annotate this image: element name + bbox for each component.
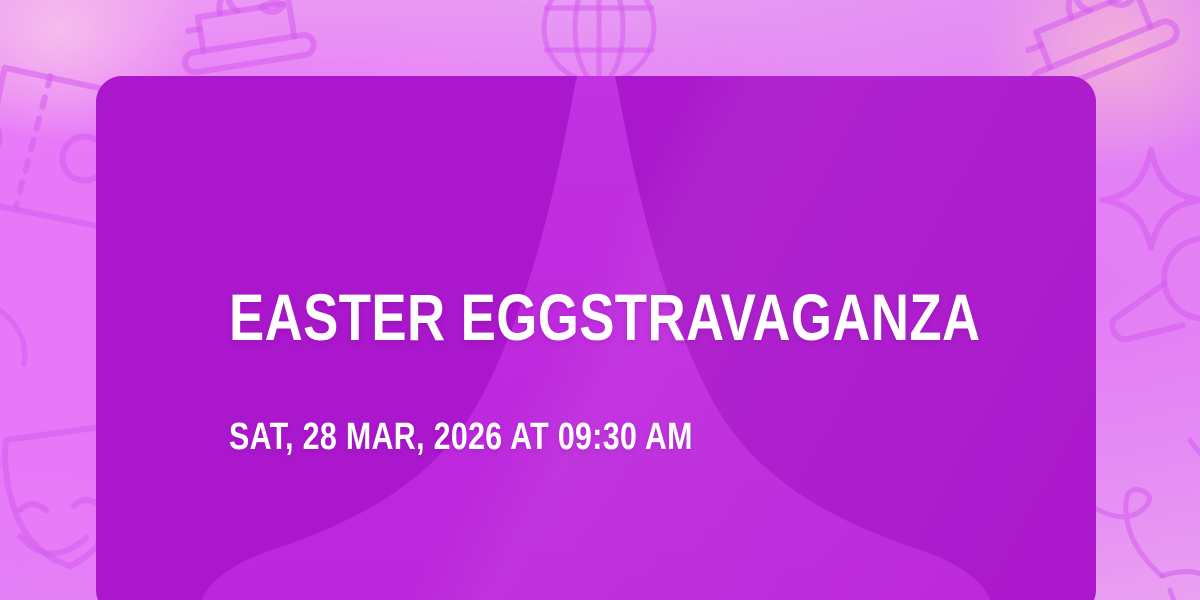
event-text-block: Easter Eggstravaganza Sat, 28 Mar, 2026 …: [229, 282, 1059, 458]
event-banner: Easter Eggstravaganza Sat, 28 Mar, 2026 …: [0, 0, 1200, 600]
event-date-time: Sat, 28 Mar, 2026 at 09:30 AM: [229, 416, 893, 458]
event-card[interactable]: Easter Eggstravaganza Sat, 28 Mar, 2026 …: [96, 76, 1096, 600]
balloon-string-icon: [1098, 452, 1200, 600]
page-title: Easter Eggstravaganza: [229, 282, 893, 352]
confetti-streamer-icon: [0, 296, 110, 416]
microphone-icon: [1116, 228, 1200, 408]
